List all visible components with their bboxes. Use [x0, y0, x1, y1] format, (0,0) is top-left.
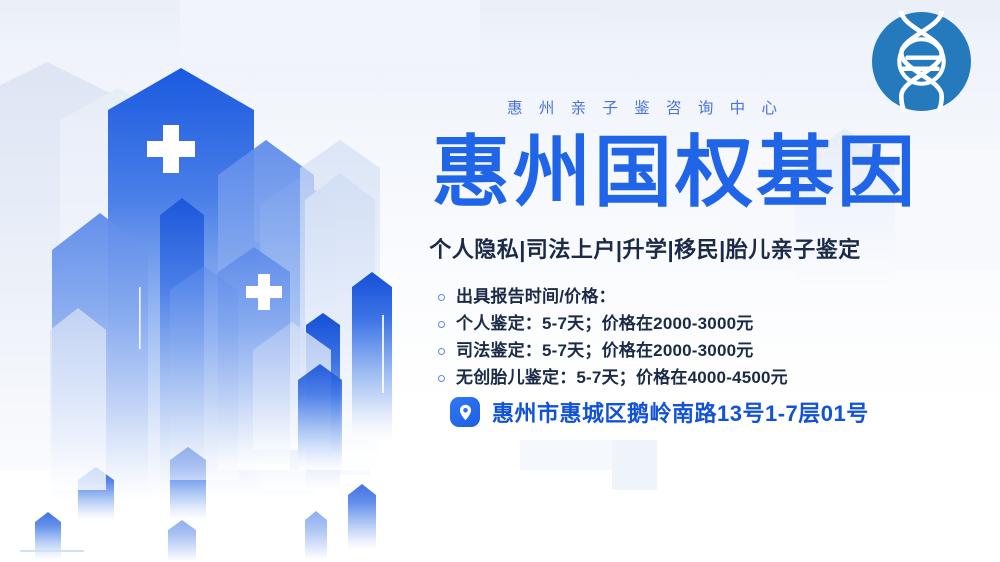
hollow-circle-bullet-icon [438, 294, 445, 301]
list-item-label: 出具报告时间/价格： [456, 287, 616, 307]
decorative-hairline [20, 550, 84, 552]
list-item-label: 个人鉴定：5-7天；价格在2000-3000元 [456, 314, 753, 334]
building-short-front-c [35, 512, 61, 560]
list-item-label: 司法鉴定：5-7天；价格在2000-3000元 [456, 341, 753, 361]
building-dark-medium-right [298, 364, 342, 470]
building-lower-mid-b [50, 308, 106, 490]
list-item: 无创胎儿鉴定：5-7天；价格在4000-4500元 [438, 366, 908, 390]
list-item-label: 无创胎儿鉴定：5-7天；价格在4000-4500元 [456, 368, 788, 388]
antenna-line-a [139, 287, 141, 349]
hollow-circle-bullet-icon [438, 348, 445, 355]
page-title: 惠州国权基因 [395, 131, 955, 213]
building-far-right-tiny [305, 511, 327, 560]
hollow-circle-bullet-icon [438, 321, 445, 328]
service-tags-line: 个人隐私|司法上户|升学|移民|胎儿亲子鉴定 [400, 236, 890, 264]
list-item: 个人鉴定：5-7天；价格在2000-3000元 [438, 312, 908, 336]
address-row: 惠州市惠城区鹅岭南路13号1-7层01号 [450, 396, 869, 428]
building-short-front-d [168, 520, 196, 562]
eyebrow-text: 惠 州 亲 子 鉴 咨 询 中 心 [400, 96, 890, 118]
address-text: 惠州市惠城区鹅岭南路13号1-7层01号 [492, 396, 869, 428]
building-far-right-small [348, 484, 376, 550]
price-list: 出具报告时间/价格： 个人鉴定：5-7天；价格在2000-3000元 司法鉴定：… [438, 285, 908, 393]
location-pin-icon [450, 397, 480, 427]
tower-shaft-highlight [382, 315, 384, 393]
list-item: 司法鉴定：5-7天；价格在2000-3000元 [438, 339, 908, 363]
building-lower-mid-a [170, 266, 238, 480]
list-item: 出具报告时间/价格： [438, 285, 908, 309]
hollow-circle-bullet-icon [438, 375, 445, 382]
hero-banner: 惠 州 亲 子 鉴 咨 询 中 心 惠州国权基因 个人隐私|司法上户|升学|移民… [0, 0, 1000, 562]
city-skyline-illustration [0, 0, 1000, 562]
building-dark-tower-center-right [352, 272, 392, 440]
antenna-line-b [381, 498, 382, 528]
